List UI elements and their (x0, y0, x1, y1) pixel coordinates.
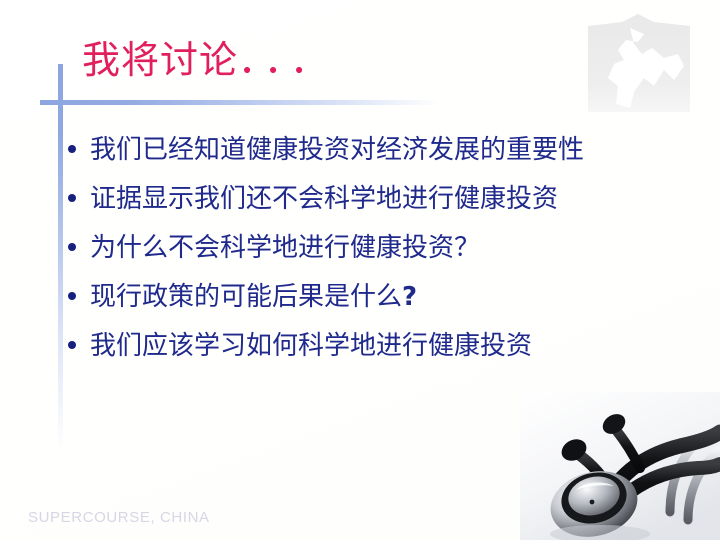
list-item-label: 证据显示我们还不会科学地进行健康投资 (90, 181, 678, 218)
list-item-label: 我们已经知道健康投资对经济发展的重要性 (90, 132, 678, 169)
bullet-dot-icon (68, 230, 90, 251)
bullet-dot-icon (68, 328, 90, 349)
page-title-text: 我将讨论 (82, 38, 238, 82)
bullet-dot-icon (68, 279, 90, 300)
slide-canvas: 我将讨论．．． 我们已经知道健康投资对经济发展的重要性 证据显示我们还不会科学地… (0, 0, 720, 540)
abstract-map-watermark-icon (578, 12, 700, 120)
list-item-label: 我们应该学习如何科学地进行健康投资 (90, 328, 678, 365)
list-item: 为什么不会科学地进行健康投资？ (68, 230, 678, 267)
list-item-label-emphasis: ? (402, 282, 417, 312)
bullet-list: 我们已经知道健康投资对经济发展的重要性 证据显示我们还不会科学地进行健康投资 为… (68, 132, 678, 377)
footer-branding: SUPERCOURSE, CHINA (28, 509, 210, 526)
bullet-dot-icon (68, 132, 90, 153)
list-item-label: 为什么不会科学地进行健康投资？ (90, 230, 678, 267)
bullet-dot-icon (68, 181, 90, 202)
stethoscope-photo (520, 392, 720, 540)
list-item-label: 现行政策的可能后果是什么? (90, 279, 678, 316)
list-item: 证据显示我们还不会科学地进行健康投资 (68, 181, 678, 218)
title-underline-rule (40, 100, 440, 105)
vertical-accent-rule (58, 64, 63, 452)
list-item: 我们已经知道健康投资对经济发展的重要性 (68, 132, 678, 169)
list-item: 我们应该学习如何科学地进行健康投资 (68, 328, 678, 365)
list-item: 现行政策的可能后果是什么? (68, 279, 678, 316)
page-title-ellipsis: ．．． (238, 38, 335, 82)
list-item-label-plain: 现行政策的可能后果是什么 (90, 282, 402, 312)
page-title: 我将讨论．．． (82, 36, 335, 84)
